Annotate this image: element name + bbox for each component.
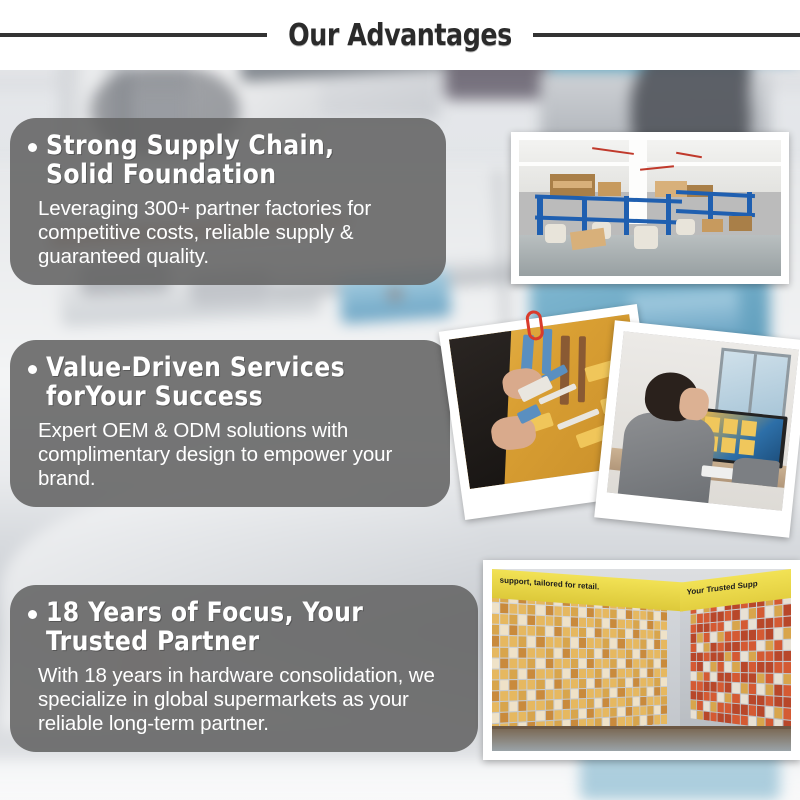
advantage-card-2: Value-Driven Services forYour Success Ex…: [10, 340, 450, 507]
advantage-card-3-body: With 18 years in hardware consolidation,…: [38, 664, 458, 737]
photo-warehouse: [511, 132, 789, 284]
advantage-card-3-title-line2: Trusted Partner: [46, 628, 363, 657]
bullet-icon: [28, 143, 37, 152]
advantage-card-1: Strong Supply Chain, Solid Foundation Le…: [10, 118, 446, 285]
bullet-icon: [28, 610, 37, 619]
advantage-card-2-title-line2: forYour Success: [46, 383, 345, 412]
advantage-card-3: 18 Years of Focus, Your Trusted Partner …: [10, 585, 478, 752]
showroom-banner-right-text: Your Trusted Supp: [687, 579, 758, 597]
page-title: Our Advantages: [288, 18, 512, 53]
header-rule-left: [0, 33, 267, 37]
photo-showroom: support, tailored for retail. Your Trust…: [483, 560, 800, 760]
advantage-card-1-title: Strong Supply Chain, Solid Foundation: [46, 132, 335, 190]
advantage-card-2-title: Value-Driven Services forYour Success: [46, 354, 345, 412]
header-rule-right: [533, 33, 800, 37]
advantage-card-2-title-line1: Value-Driven Services: [46, 354, 345, 383]
header: Our Advantages: [0, 0, 800, 70]
photo-office-workstation: [594, 320, 800, 537]
advantages-banner: Our Advantages: [0, 0, 800, 800]
showroom-banner-left-text: support, tailored for retail.: [500, 576, 600, 592]
advantage-card-1-title-line1: Strong Supply Chain,: [46, 132, 335, 161]
advantage-card-1-title-line2: Solid Foundation: [46, 161, 335, 190]
advantage-card-1-body: Leveraging 300+ partner factories for co…: [38, 197, 426, 270]
advantage-card-2-body: Expert OEM & ODM solutions with complime…: [38, 419, 430, 492]
advantage-card-3-title-line1: 18 Years of Focus, Your: [46, 599, 363, 628]
bullet-icon: [28, 365, 37, 374]
advantage-card-3-title: 18 Years of Focus, Your Trusted Partner: [46, 599, 363, 657]
